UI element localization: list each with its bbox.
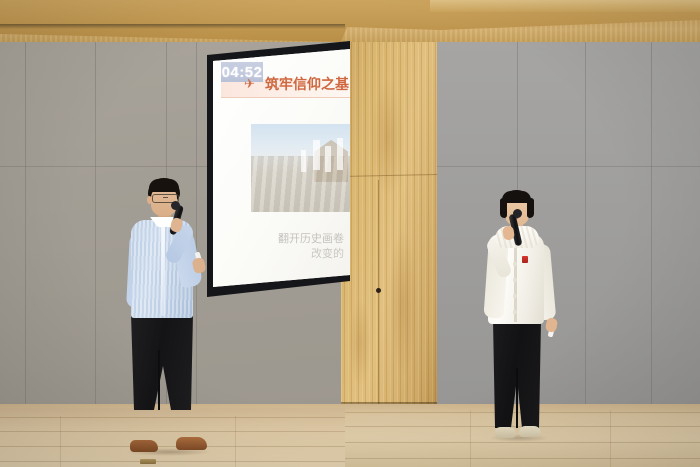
bamboo-wall xyxy=(341,18,437,418)
female-hand-holding-mic xyxy=(502,225,515,240)
male-hair-front xyxy=(149,179,179,192)
slide: 04:52 ✈ 筑牢信仰之基 翻开历史画卷 改变的 xyxy=(211,49,350,287)
slide-body-line-2: 改变的 xyxy=(234,246,344,261)
slide-title: 筑牢信仰之基 xyxy=(265,74,350,94)
slide-photo xyxy=(251,124,350,212)
floor-object xyxy=(140,459,156,464)
slide-body-text: 翻开历史画卷 改变的 xyxy=(234,231,344,261)
door-knob-icon[interactable] xyxy=(376,288,381,293)
dove-icon: ✈ xyxy=(244,77,264,91)
female-hair-side-right xyxy=(527,198,534,218)
female-microphone-head xyxy=(513,209,522,218)
slide-body-line-1: 翻开历史画卷 xyxy=(234,231,344,246)
male-shoe-right xyxy=(176,437,207,450)
female-lapel-badge xyxy=(522,256,528,263)
female-shoe-right xyxy=(519,426,541,437)
male-shoe-left xyxy=(130,440,158,452)
ceiling-light-strip xyxy=(430,0,700,12)
male-leg-gap xyxy=(158,350,160,410)
female-leg-gap xyxy=(516,368,518,428)
wall-right-panels xyxy=(430,40,700,415)
male-microphone-head xyxy=(171,201,180,210)
female-hair-side-left xyxy=(500,198,507,218)
photo-scene: 04:52 ✈ 筑牢信仰之基 翻开历史画卷 改变的 xyxy=(0,0,700,467)
floor-foreground xyxy=(0,408,345,467)
presentation-screen[interactable]: 04:52 ✈ 筑牢信仰之基 翻开历史画卷 改变的 xyxy=(211,49,350,287)
male-shirt-placket xyxy=(161,224,165,316)
door-edge[interactable] xyxy=(378,180,379,412)
female-shoe-left xyxy=(495,427,516,438)
soffit-shadow xyxy=(0,24,345,29)
